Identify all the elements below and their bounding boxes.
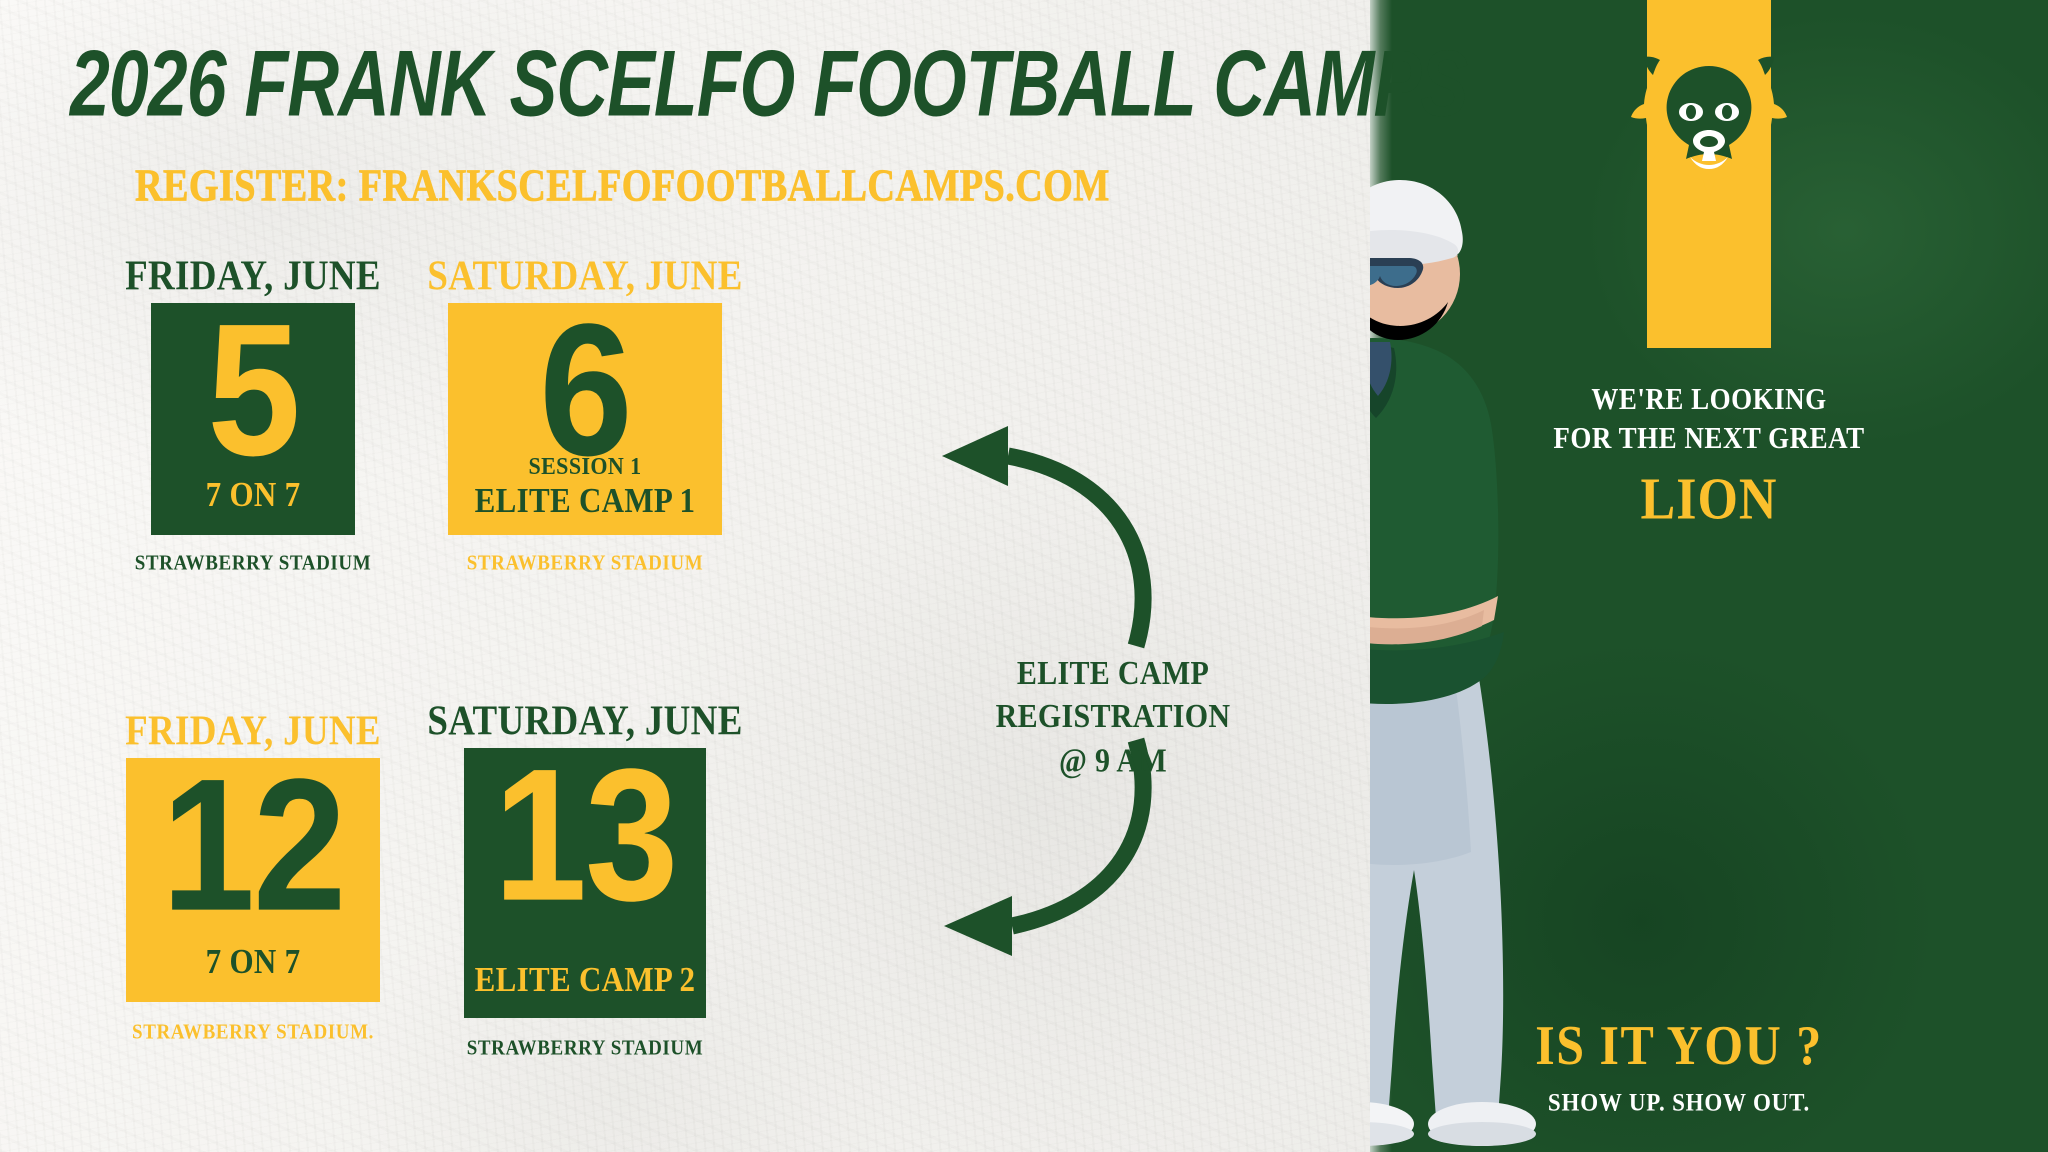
- card-date-number: 5: [207, 309, 298, 471]
- card-session-label: SESSION 1: [528, 452, 641, 481]
- card-date-box: 13 ELITE CAMP 2: [464, 748, 706, 1018]
- card-date-number: 13: [494, 754, 677, 916]
- page-title: 2026 FRANK SCELFO FOOTBALL CAMPS: [70, 40, 1009, 129]
- card-venue: STRAWBERRY STADIUM.: [132, 1021, 374, 1045]
- coach-photo: [1370, 92, 1700, 1152]
- registration-note-line-1: ELITE CAMP: [978, 652, 1248, 696]
- right-green-panel: WE'RE LOOKING FOR THE NEXT GREAT LION: [1370, 0, 2048, 1152]
- register-url: REGISTER: FRANKSCELFOFOOTBALLCAMPS.COM: [135, 160, 1115, 212]
- camp-flyer: WE'RE LOOKING FOR THE NEXT GREAT LION: [0, 0, 2048, 1152]
- card-camp-label: 7 ON 7: [206, 475, 301, 515]
- card-date-box: 6 SESSION 1 ELITE CAMP 1: [448, 303, 722, 535]
- card-camp-label: 7 ON 7: [206, 942, 301, 982]
- registration-note-line-3: @ 9 AM: [978, 740, 1248, 784]
- card-venue: STRAWBERRY STADIUM: [467, 1037, 704, 1061]
- card-venue: STRAWBERRY STADIUM: [467, 552, 704, 576]
- card-date-box: 12 7 ON 7: [126, 758, 380, 1002]
- registration-note-line-2: REGISTRATION: [978, 696, 1248, 740]
- card-camp-label: ELITE CAMP 2: [475, 960, 696, 1000]
- card-date-box: 5 7 ON 7: [151, 303, 355, 535]
- cta-subline: SHOW UP. SHOW OUT.: [1370, 1089, 2048, 1118]
- cta-headline: IS IT YOU ?: [1370, 1013, 2048, 1078]
- card-camp-label: ELITE CAMP 1: [475, 481, 696, 521]
- card-venue: STRAWBERRY STADIUM: [135, 552, 372, 576]
- card-date-number: 6: [539, 309, 630, 471]
- card-date-number: 12: [162, 764, 345, 926]
- registration-note: ELITE CAMP REGISTRATION @ 9 AM: [978, 652, 1248, 783]
